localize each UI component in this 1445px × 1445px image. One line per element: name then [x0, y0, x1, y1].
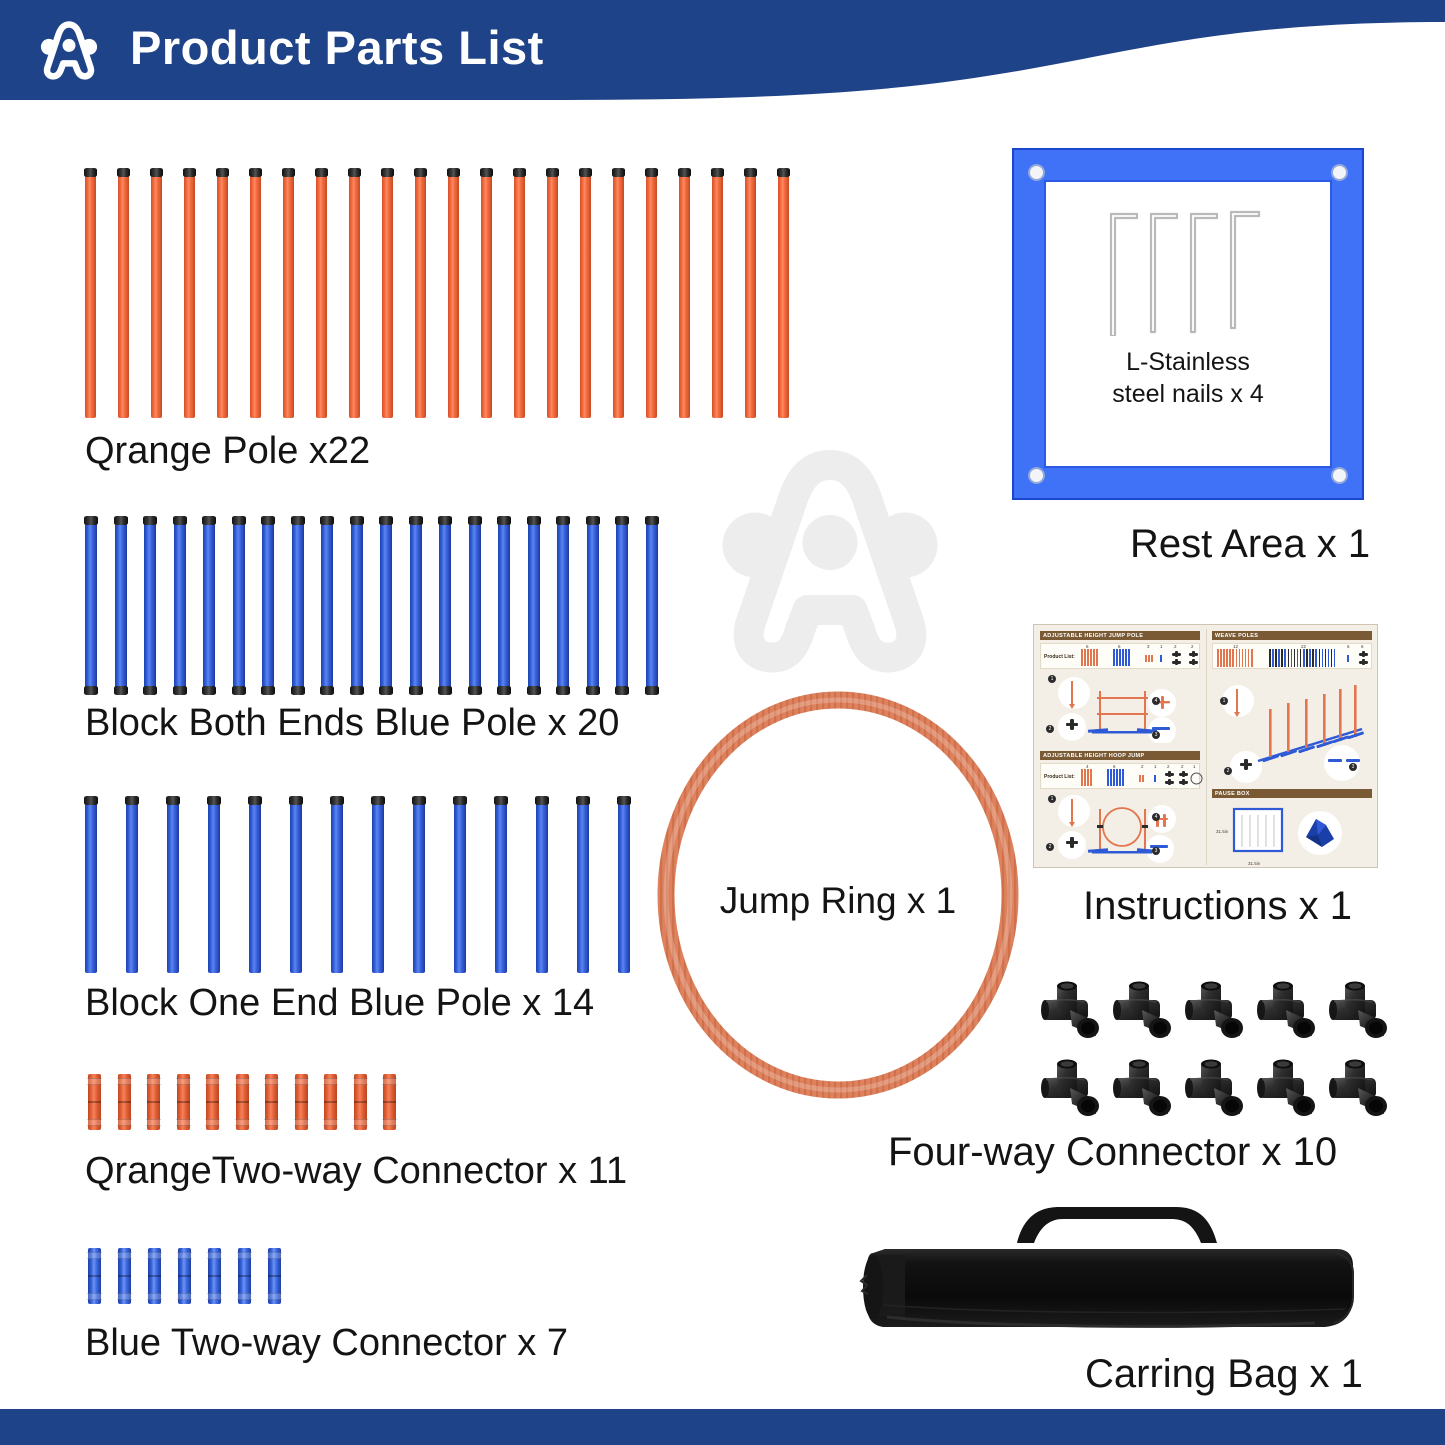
connector-seam: [147, 1101, 160, 1103]
rest-area-label: Rest Area x 1: [1130, 522, 1370, 567]
pole-shaft: [351, 518, 363, 693]
pole-shaft: [292, 518, 304, 693]
block-both-ends-blue-pole-item: [587, 518, 599, 693]
page-header: Product Parts List: [0, 0, 1445, 130]
block-both-ends-blue-pole-item: [380, 518, 392, 693]
l-stainless-steel-nails-icon: [1103, 204, 1273, 336]
connector-ring-bottom: [207, 1293, 222, 1300]
pole-cap-top: [711, 168, 724, 177]
instr-section-title-pause-box: PAUSE BOX: [1212, 789, 1372, 798]
pole-shaft: [233, 518, 245, 693]
instr-qty-1-3: 3: [1147, 644, 1150, 649]
connector-seam: [208, 1275, 221, 1277]
pole-shaft: [85, 170, 96, 418]
instr-step-4a: 4: [1152, 697, 1160, 705]
orange-pole-item: [250, 170, 261, 418]
pole-shaft: [321, 518, 333, 693]
blue-two-way-connector-group: [88, 1248, 298, 1304]
pole-cap-top: [381, 168, 394, 177]
pole-cap-top: [84, 516, 98, 525]
pole-cap-bottom: [232, 686, 246, 695]
pole-cap-top: [248, 796, 262, 805]
orange-two-way-connector-item: [206, 1074, 219, 1130]
block-both-ends-blue-pole-item: [351, 518, 363, 693]
instr-jump-pole-diagram: [1044, 673, 1199, 743]
block-one-end-blue-pole-item: [577, 798, 589, 973]
blue-two-way-connector-item: [208, 1248, 221, 1304]
pole-shaft: [580, 170, 591, 418]
pole-cap-top: [579, 168, 592, 177]
connector-seam: [148, 1275, 161, 1277]
pole-cap-top: [84, 796, 98, 805]
connector-ring-bottom: [87, 1293, 102, 1300]
connector-ring-top: [207, 1252, 222, 1259]
orange-pole-item: [778, 170, 789, 418]
four-way-connector-item: [1184, 1058, 1250, 1124]
instr-qty-3-3: 6: [1347, 644, 1350, 649]
block-both-ends-blue-pole-item: [85, 518, 97, 693]
connector-seam: [118, 1275, 131, 1277]
pole-cap-top: [497, 516, 511, 525]
pole-cap-top: [615, 516, 629, 525]
instructions-sheet: ADJUSTABLE HEIGHT JUMP POLE Product List…: [1033, 624, 1378, 868]
instructions-label: Instructions x 1: [1083, 884, 1352, 929]
instr-product-list-weave: 12 22 6 6: [1212, 643, 1372, 669]
instr-mini-conn-2: [1160, 655, 1163, 662]
pole-shaft: [469, 518, 481, 693]
instr-qty-1-2: 6: [1118, 644, 1121, 649]
pole-cap-bottom: [409, 686, 423, 695]
pole-shaft: [778, 170, 789, 418]
connector-seam: [383, 1101, 396, 1103]
connector-ring-top: [267, 1252, 282, 1259]
connector-ring-bottom: [205, 1119, 220, 1126]
instr-qty-2-7: 1: [1193, 764, 1196, 769]
block-one-end-blue-pole-item: [454, 798, 466, 973]
grommet-bottom-left: [1028, 467, 1045, 484]
page-footer-bar: [0, 1409, 1445, 1445]
orange-two-way-connector-item: [324, 1074, 337, 1130]
block-one-end-blue-pole-item: [249, 798, 261, 973]
jump-ring-group: Jump Ring x 1: [648, 690, 1028, 1100]
instr-step-1c: 1: [1220, 697, 1228, 705]
four-way-connector-item: [1040, 980, 1106, 1046]
instr-four-way-icon-1: [1171, 651, 1183, 667]
pole-cap-bottom: [615, 686, 629, 695]
block-both-ends-blue-pole-item: [528, 518, 540, 693]
instr-product-list-label-2: Product List:: [1044, 774, 1075, 780]
pole-cap-top: [379, 516, 393, 525]
connector-ring-top: [117, 1252, 132, 1259]
pole-cap-top: [291, 516, 305, 525]
carrying-bag-icon: [845, 1205, 1390, 1365]
blue-two-way-connector-item: [268, 1248, 281, 1304]
orange-pole-item: [217, 170, 228, 418]
orange-two-way-connector-item: [383, 1074, 396, 1130]
connector-seam: [354, 1101, 367, 1103]
instr-mini-orange-bars-2: [1081, 769, 1093, 786]
instr-step-3c: 3: [1349, 763, 1357, 771]
instr-four-way-icon-2: [1188, 651, 1200, 667]
pole-shaft: [290, 798, 302, 973]
pole-cap-top: [232, 516, 246, 525]
pole-cap-top: [777, 168, 790, 177]
pole-shaft: [118, 170, 129, 418]
pole-cap-top: [546, 168, 559, 177]
pole-cap-top: [453, 796, 467, 805]
instr-mini-conn-5: [1347, 655, 1350, 662]
block-both-ends-blue-pole-group: [85, 518, 675, 693]
instr-qty-2-2: 6: [1113, 764, 1116, 769]
pole-shaft: [646, 170, 657, 418]
pole-shaft: [115, 518, 127, 693]
pole-shaft: [646, 518, 658, 693]
pole-cap-top: [330, 796, 344, 805]
orange-two-way-connector-group: [88, 1074, 413, 1130]
connector-ring-top: [177, 1252, 192, 1259]
instr-mini-conn-4: [1154, 775, 1157, 782]
orange-pole-item: [481, 170, 492, 418]
instr-section-title-jump-pole: ADJUSTABLE HEIGHT JUMP POLE: [1040, 631, 1200, 640]
instr-four-way-icon-4: [1178, 771, 1190, 787]
block-both-ends-blue-pole-item: [233, 518, 245, 693]
instr-product-list-label-1: Product List:: [1044, 654, 1075, 660]
orange-pole-item: [382, 170, 393, 418]
instr-step-3a: 3: [1152, 731, 1160, 739]
pole-cap-top: [348, 168, 361, 177]
pole-cap-top: [645, 168, 658, 177]
pole-cap-top: [513, 168, 526, 177]
pole-cap-top: [409, 516, 423, 525]
pole-shaft: [250, 170, 261, 418]
pole-shaft: [249, 798, 261, 973]
pole-shaft: [679, 170, 690, 418]
product-parts-list-page: Product Parts List Qrange Pole x22 Block…: [0, 0, 1445, 1445]
pole-cap-bottom: [468, 686, 482, 695]
connector-ring-top: [117, 1078, 132, 1085]
orange-pole-item: [679, 170, 690, 418]
block-one-end-blue-pole-item: [618, 798, 630, 973]
connector-seam: [88, 1275, 101, 1277]
block-both-ends-blue-pole-item: [115, 518, 127, 693]
block-one-end-blue-pole-label: Block One End Blue Pole x 14: [85, 982, 594, 1025]
instr-four-way-icon-5: [1358, 651, 1370, 667]
block-both-ends-blue-pole-item: [557, 518, 569, 693]
pole-shaft: [372, 798, 384, 973]
pole-shaft: [380, 518, 392, 693]
pole-cap-top: [535, 796, 549, 805]
instr-hoop-jump-diagram: [1044, 793, 1199, 863]
orange-pole-item: [316, 170, 327, 418]
instr-step-1a: 1: [1048, 675, 1056, 683]
pole-shaft: [262, 518, 274, 693]
pole-shaft: [745, 170, 756, 418]
connector-ring-top: [237, 1252, 252, 1259]
pole-shaft: [587, 518, 599, 693]
pole-cap-top: [249, 168, 262, 177]
connector-ring-bottom: [117, 1293, 132, 1300]
pole-cap-bottom: [438, 686, 452, 695]
pole-cap-top: [617, 796, 631, 805]
pole-cap-top: [494, 796, 508, 805]
instr-qty-1-4: 1: [1160, 644, 1163, 649]
pole-shaft: [85, 798, 97, 973]
grommet-top-left: [1028, 164, 1045, 181]
instr-qty-2-1: 4: [1086, 764, 1089, 769]
instr-qty-3-4: 6: [1361, 644, 1364, 649]
instr-qty-2-3: 2: [1141, 764, 1144, 769]
block-one-end-blue-pole-item: [85, 798, 97, 973]
jump-ring-label: Jump Ring x 1: [648, 880, 1028, 922]
pole-cap-top: [576, 796, 590, 805]
pole-shaft: [557, 518, 569, 693]
pole-cap-top: [150, 168, 163, 177]
rest-area-inner-panel: L-Stainless steel nails x 4: [1044, 180, 1332, 468]
pole-cap-top: [586, 516, 600, 525]
connector-ring-bottom: [176, 1119, 191, 1126]
pole-cap-top: [282, 168, 295, 177]
connector-seam: [324, 1101, 337, 1103]
pole-cap-bottom: [497, 686, 511, 695]
orange-pole-item: [613, 170, 624, 418]
pole-shaft: [481, 170, 492, 418]
pole-cap-top: [125, 796, 139, 805]
pole-shaft: [349, 170, 360, 418]
instr-mini-blue-bars-2: [1107, 769, 1126, 786]
pole-shaft: [413, 798, 425, 973]
connector-ring-bottom: [237, 1293, 252, 1300]
blue-two-way-connector-item: [178, 1248, 191, 1304]
pole-shaft: [217, 170, 228, 418]
instr-mini-blue-bars-3: [1269, 649, 1337, 667]
instr-qty-1-5: 2: [1174, 644, 1177, 649]
pole-shaft: [331, 798, 343, 973]
instr-mini-blue-bars-1: [1113, 649, 1132, 666]
orange-pole-item: [448, 170, 459, 418]
pole-shaft: [613, 170, 624, 418]
instr-step-2a: 2: [1046, 725, 1054, 733]
orange-pole-item: [349, 170, 360, 418]
connector-ring-top: [323, 1078, 338, 1085]
connector-ring-top: [87, 1252, 102, 1259]
rest-area-nails-text-line1: L-Stainless: [1046, 346, 1330, 378]
orange-two-way-connector-label: QrangeTwo-way Connector x 11: [85, 1150, 627, 1193]
connector-ring-bottom: [177, 1293, 192, 1300]
pole-shaft: [208, 798, 220, 973]
connector-seam: [238, 1275, 251, 1277]
pole-cap-top: [556, 516, 570, 525]
block-one-end-blue-pole-item: [167, 798, 179, 973]
connector-ring-top: [382, 1078, 397, 1085]
connector-ring-top: [353, 1078, 368, 1085]
connector-seam: [268, 1275, 281, 1277]
connector-seam: [206, 1101, 219, 1103]
orange-pole-item: [745, 170, 756, 418]
pole-shaft: [174, 518, 186, 693]
instr-hoop-icon: [1190, 772, 1203, 785]
connector-ring-bottom: [117, 1119, 132, 1126]
pole-cap-top: [371, 796, 385, 805]
connector-seam: [178, 1275, 191, 1277]
brand-watermark-icon: [700, 430, 960, 680]
pole-cap-top: [412, 796, 426, 805]
pole-cap-bottom: [586, 686, 600, 695]
block-both-ends-blue-pole-item: [498, 518, 510, 693]
orange-pole-item: [712, 170, 723, 418]
pole-cap-top: [183, 168, 196, 177]
orange-pole-label: Qrange Pole x22: [85, 430, 370, 473]
instr-qty-1-1: 6: [1086, 644, 1089, 649]
pole-cap-top: [207, 796, 221, 805]
orange-pole-item: [283, 170, 294, 418]
pole-cap-top: [447, 168, 460, 177]
pole-cap-top: [320, 516, 334, 525]
instr-step-4b: 4: [1152, 813, 1160, 821]
instr-step-3b: 3: [1152, 847, 1160, 855]
pole-cap-top: [438, 516, 452, 525]
orange-pole-item: [85, 170, 96, 418]
connector-ring-top: [294, 1078, 309, 1085]
instr-product-list-hoop-jump: Product List: 4 6 2 1 2: [1040, 763, 1200, 789]
instr-pause-box-folded-icon: [1296, 809, 1344, 857]
block-both-ends-blue-pole-item: [410, 518, 422, 693]
pole-shaft: [85, 518, 97, 693]
pole-shaft: [283, 170, 294, 418]
blue-two-way-connector-item: [118, 1248, 131, 1304]
pole-shaft: [498, 518, 510, 693]
orange-two-way-connector-item: [295, 1074, 308, 1130]
orange-pole-item: [547, 170, 558, 418]
grommet-bottom-right: [1331, 467, 1348, 484]
block-both-ends-blue-pole-item: [174, 518, 186, 693]
orange-pole-item: [514, 170, 525, 418]
pole-cap-top: [480, 168, 493, 177]
block-both-ends-blue-pole-item: [469, 518, 481, 693]
block-one-end-blue-pole-group: [85, 798, 659, 973]
connector-ring-top: [87, 1078, 102, 1085]
block-both-ends-blue-pole-item: [321, 518, 333, 693]
connector-ring-bottom: [264, 1119, 279, 1126]
four-way-connector-label: Four-way Connector x 10: [888, 1130, 1337, 1175]
connector-seam: [88, 1101, 101, 1103]
pole-cap-bottom: [350, 686, 364, 695]
orange-pole-item: [646, 170, 657, 418]
four-way-connector-group: [1040, 980, 1400, 1136]
blue-two-way-connector-label: Blue Two-way Connector x 7: [85, 1322, 568, 1365]
pole-shaft: [514, 170, 525, 418]
instr-qty-2-4: 1: [1154, 764, 1157, 769]
orange-two-way-connector-item: [177, 1074, 190, 1130]
connector-ring-bottom: [294, 1119, 309, 1126]
instr-pause-box-dim-w: 31.5in: [1248, 861, 1260, 866]
four-way-connector-item: [1184, 980, 1250, 1046]
pole-shaft: [126, 798, 138, 973]
instr-mini-conn-1: [1145, 655, 1154, 662]
pole-shaft: [448, 170, 459, 418]
pole-cap-bottom: [379, 686, 393, 695]
connector-ring-top: [264, 1078, 279, 1085]
connector-seam: [118, 1101, 131, 1103]
four-way-connector-item: [1256, 980, 1322, 1046]
pole-cap-top: [527, 516, 541, 525]
block-one-end-blue-pole-item: [495, 798, 507, 973]
orange-two-way-connector-item: [354, 1074, 367, 1130]
four-way-connector-item: [1328, 980, 1394, 1046]
connector-ring-top: [146, 1078, 161, 1085]
orange-pole-item: [580, 170, 591, 418]
pole-shaft: [184, 170, 195, 418]
pole-cap-top: [173, 516, 187, 525]
instr-qty-2-6: 2: [1181, 764, 1184, 769]
connector-ring-bottom: [146, 1119, 161, 1126]
instr-column-divider: [1206, 629, 1207, 865]
rest-area-mat: L-Stainless steel nails x 4: [1012, 148, 1364, 500]
orange-two-way-connector-item: [147, 1074, 160, 1130]
pole-shaft: [536, 798, 548, 973]
blue-two-way-connector-item: [88, 1248, 101, 1304]
orange-two-way-connector-item: [236, 1074, 249, 1130]
blue-two-way-connector-item: [238, 1248, 251, 1304]
connector-ring-top: [235, 1078, 250, 1085]
instr-step-2b: 2: [1046, 843, 1054, 851]
connector-ring-bottom: [323, 1119, 338, 1126]
connector-ring-bottom: [147, 1293, 162, 1300]
block-both-ends-blue-pole-item: [439, 518, 451, 693]
instr-mini-orange-bars-1: [1081, 649, 1100, 666]
pole-cap-top: [289, 796, 303, 805]
pole-cap-top: [216, 168, 229, 177]
connector-ring-bottom: [87, 1119, 102, 1126]
block-both-ends-blue-pole-item: [646, 518, 658, 693]
pole-cap-top: [202, 516, 216, 525]
block-one-end-blue-pole-item: [126, 798, 138, 973]
block-both-ends-blue-pole-item: [144, 518, 156, 693]
four-way-connector-item: [1328, 1058, 1394, 1124]
pole-shaft: [712, 170, 723, 418]
pole-shaft: [151, 170, 162, 418]
block-one-end-blue-pole-item: [413, 798, 425, 973]
instr-mini-orange-bars-3: [1217, 649, 1254, 667]
pole-cap-bottom: [143, 686, 157, 695]
pole-shaft: [618, 798, 630, 973]
brand-logo-icon: [33, 13, 105, 85]
pole-cap-top: [612, 168, 625, 177]
connector-ring-bottom: [267, 1293, 282, 1300]
connector-seam: [236, 1101, 249, 1103]
pole-shaft: [528, 518, 540, 693]
connector-ring-bottom: [382, 1119, 397, 1126]
pole-cap-top: [468, 516, 482, 525]
pole-cap-top: [84, 168, 97, 177]
instr-section-title-weave-poles: WEAVE POLES: [1212, 631, 1372, 640]
connector-ring-bottom: [353, 1119, 368, 1126]
pole-cap-bottom: [320, 686, 334, 695]
pole-cap-top: [414, 168, 427, 177]
block-both-ends-blue-pole-item: [292, 518, 304, 693]
instr-qty-3-1: 12: [1233, 644, 1238, 649]
pole-cap-bottom: [527, 686, 541, 695]
pole-cap-bottom: [291, 686, 305, 695]
pole-cap-top: [744, 168, 757, 177]
block-one-end-blue-pole-item: [208, 798, 220, 973]
block-one-end-blue-pole-item: [331, 798, 343, 973]
orange-pole-item: [118, 170, 129, 418]
connector-ring-top: [147, 1252, 162, 1259]
connector-ring-top: [176, 1078, 191, 1085]
pole-shaft: [316, 170, 327, 418]
four-way-connector-item: [1112, 1058, 1178, 1124]
block-both-ends-blue-pole-label: Block Both Ends Blue Pole x 20: [85, 702, 619, 745]
